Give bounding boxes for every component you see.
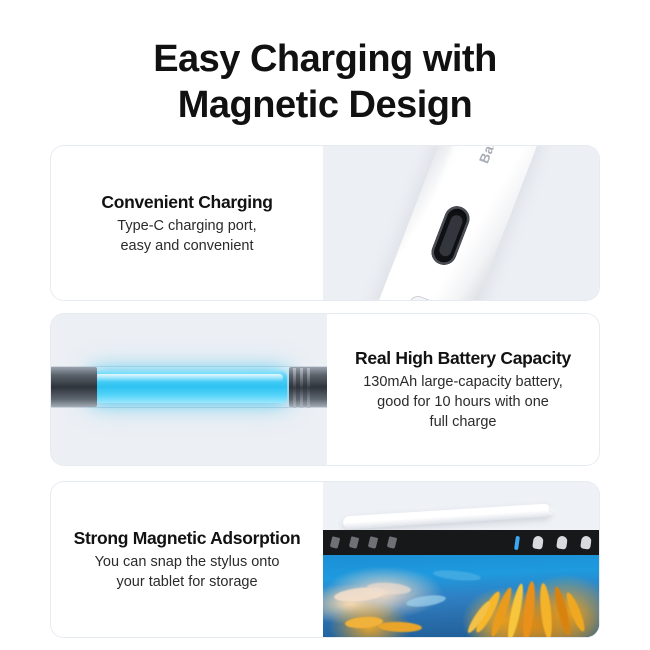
battery-illustration [51,314,327,465]
brush-stroke [378,621,422,633]
brush-stroke [345,616,384,630]
painting-canvas [323,555,599,637]
card-2-title: Real High Battery Capacity [355,347,571,369]
toolbar-tool-icon-1 [330,536,340,549]
toolbar-brush-icon-1 [532,535,544,549]
stylus-body: Baseus [356,146,549,300]
toolbar-brush-icon-active [514,535,520,549]
card-3-text-pane: Strong Magnetic Adsorption You can snap … [51,482,323,637]
brand-logo-text: Baseus [475,146,509,168]
card-2-description-line-2: good for 10 hours with one [377,392,549,412]
card-1-image-pane: Baseus [323,146,599,300]
stylus-highlight [372,146,491,300]
toolbar-right-group [515,536,591,550]
battery-cap-left [51,367,97,407]
product-infographic: Easy Charging with Magnetic Design Conve… [0,0,650,650]
drawing-app-toolbar [323,530,599,555]
stylus-photo: Baseus [323,146,599,300]
brush-stroke [538,583,554,637]
card-1-description-line-1: Type-C charging port, [117,216,256,236]
headline-line-2: Magnetic Design [0,82,650,128]
battery-ring-2 [300,368,303,408]
toolbar-brush-icon-2 [556,535,568,549]
battery-ring-1 [293,368,296,408]
toolbar-left-group [331,537,396,548]
card-2-description-line-1: 130mAh large-capacity battery, [363,372,563,392]
brush-stroke [521,581,537,637]
card-3-image-pane [323,482,599,637]
card-3-title: Strong Magnetic Adsorption [74,527,301,549]
card-1-title: Convenient Charging [101,191,272,213]
card-3-description-line-2: your tablet for storage [116,572,257,592]
card-2-image-pane [51,314,327,465]
battery-cap-right [289,367,327,407]
feature-card-battery-capacity: Real High Battery Capacity 130mAh large-… [51,314,599,465]
card-1-text-pane: Convenient Charging Type-C charging port… [51,146,323,300]
brush-stroke [433,569,482,583]
tablet-photo [323,482,599,637]
tablet-device [323,530,599,637]
battery-glow-core [91,371,287,403]
toolbar-tool-icon-4 [387,536,397,549]
toolbar-tool-icon-3 [368,536,378,549]
battery-cylinder [51,366,327,408]
card-2-text-pane: Real High Battery Capacity 130mAh large-… [327,314,599,465]
card-3-description-line-1: You can snap the stylus onto [95,552,280,572]
feature-card-convenient-charging: Convenient Charging Type-C charging port… [51,146,599,300]
page-title: Easy Charging with Magnetic Design [0,36,650,128]
headline-line-1: Easy Charging with [153,38,497,80]
card-1-description-line-2: easy and convenient [120,236,253,256]
feature-card-magnetic-adsorption: Strong Magnetic Adsorption You can snap … [51,482,599,637]
brush-stroke [405,593,446,608]
battery-ring-3 [307,368,310,408]
stylus-attached-to-tablet [343,503,551,529]
toolbar-tool-icon-2 [349,536,359,549]
toolbar-brush-icon-3 [580,535,592,549]
card-2-description-line-3: full charge [430,412,497,432]
